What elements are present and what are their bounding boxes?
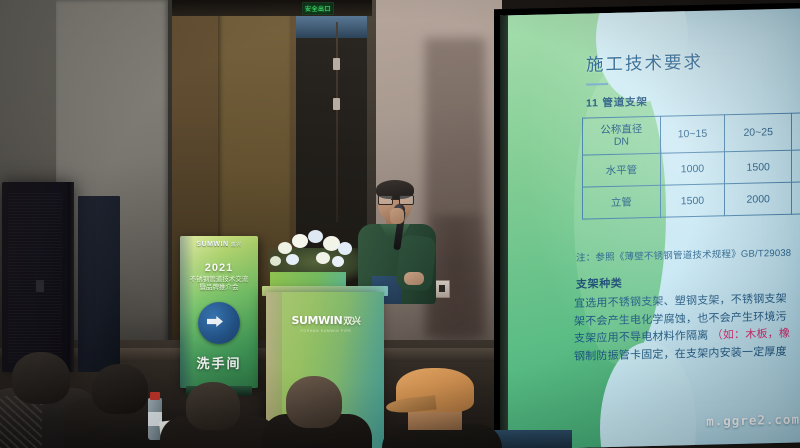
flower-blue <box>332 256 344 267</box>
audience-head <box>286 376 342 428</box>
speaker-badge <box>36 280 44 292</box>
table-row: 水平管 1000 1500 <box>583 149 800 187</box>
audience-member-5 <box>388 368 494 448</box>
cell-horizontal-3 <box>792 149 800 182</box>
audience-head <box>12 352 70 404</box>
hanging-cable <box>336 22 338 222</box>
cell-dn-label: 公称直径DN <box>583 116 661 155</box>
flower-white <box>270 256 281 266</box>
flower-white <box>278 242 292 254</box>
cell-horizontal-label: 水平管 <box>583 153 661 187</box>
cell-dn-range-2: 20~25 <box>725 113 792 152</box>
bottle-cap <box>150 392 160 400</box>
exit-sign: 安全出口 <box>302 2 334 15</box>
pa-speaker-cabinet <box>2 182 74 372</box>
presenter-hand <box>404 272 424 285</box>
event-standee-banner: SUMWIN双兴 2021 不锈钢管道技术交流 暨品牌推介会 洗手间 <box>180 236 258 388</box>
table-row: 立管 1500 2000 <box>583 181 800 219</box>
exit-sign-label: 安全出口 <box>305 4 331 13</box>
audience-head <box>186 382 240 430</box>
audience-member-3 <box>172 382 268 448</box>
cell-vertical-label: 立管 <box>583 185 661 219</box>
cable-clip <box>333 58 340 70</box>
slide-body-text: 宜选用不锈钢支架、塑钢支架，不锈钢支架 架不会产生电化学腐蚀，也不会产生环境污 … <box>574 290 800 366</box>
presenter <box>352 180 444 302</box>
cell-vertical-2: 2000 <box>725 182 792 216</box>
audience-member-4 <box>272 376 362 448</box>
slide-green-panel <box>508 13 620 448</box>
screen-left-bezel <box>500 15 508 448</box>
body-line-3-highlight: （如：木板，橡 <box>712 328 790 342</box>
speaker-grill <box>8 192 62 362</box>
cell-dn-range-1: 10~15 <box>660 115 724 154</box>
standee-sheen <box>180 236 258 388</box>
table-row: 公称直径DN 10~15 20~25 <box>583 112 800 155</box>
audience-head <box>92 364 148 414</box>
doorway-light-gap <box>296 14 370 38</box>
slide-section-heading: 11 管道支架 <box>586 94 648 110</box>
presenter-hand-holding-mic <box>390 208 404 224</box>
slide-title: 施工技术要求 <box>586 49 703 77</box>
cell-vertical-3 <box>792 181 800 214</box>
flower-blue <box>286 254 299 265</box>
pa-speaker-secondary <box>78 196 120 372</box>
body-line-3-pre: 支架应用不导电材料作隔离 <box>574 330 712 345</box>
cell-horizontal-2: 1500 <box>725 150 792 184</box>
speaker-edge <box>68 182 74 372</box>
spec-table: 公称直径DN 10~15 20~25 水平管 1000 1500 立管 1500… <box>582 111 800 219</box>
flower-blue <box>308 230 323 243</box>
slide-subsection-heading: 支架种类 <box>576 275 622 292</box>
cell-vertical-1: 1500 <box>660 184 724 218</box>
flower-blue <box>338 242 352 255</box>
cable-clip <box>333 98 340 110</box>
cell-dn-range-3 <box>792 112 800 150</box>
ceiling-soffit <box>172 0 372 16</box>
flower-white <box>292 234 308 248</box>
conference-photo: 安全出口 SUMWIN双兴 2021 不锈钢管道技术交流 暨品牌推介会 洗手间 <box>0 0 800 448</box>
flower-white <box>316 252 330 264</box>
projection-screen: 施工技术要求 11 管道支架 公称直径DN 10~15 20~25 水平管 10… <box>500 8 800 448</box>
site-watermark: m.ggre2.com <box>706 412 800 429</box>
cell-horizontal-1: 1000 <box>660 152 724 186</box>
eyeglasses-icon <box>378 195 412 203</box>
